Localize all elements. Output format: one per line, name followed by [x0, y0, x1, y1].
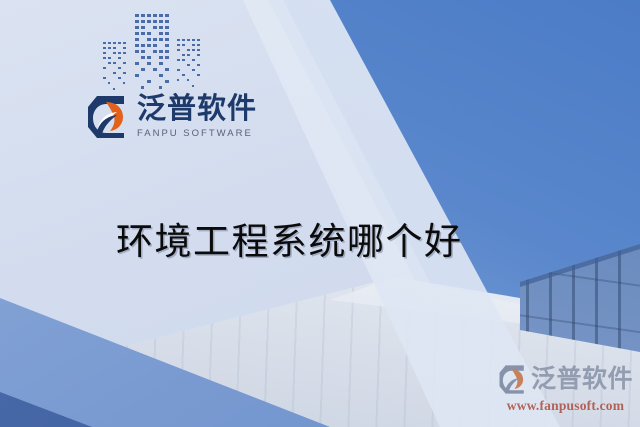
logo-chinese-name: 泛普软件 [137, 95, 257, 124]
fanpu-logo-lockup: 泛普软件 FANPU SOFTWARE [86, 94, 257, 140]
watermark-url: www.fanpusoft.com [507, 398, 624, 414]
page-title: 环境工程系统哪个好 [116, 211, 463, 265]
logo-english-name: FANPU SOFTWARE [137, 129, 257, 139]
fanpu-shield-leaf-mark [498, 364, 528, 395]
fanpu-shield-leaf-mark [86, 94, 130, 140]
pixel-city-skyline-icon [97, 6, 209, 98]
promo-banner: 泛普软件 FANPU SOFTWARE 环境工程系统哪个好 泛普软件 www.f… [0, 0, 640, 427]
logo-wordmark: 泛普软件 FANPU SOFTWARE [137, 95, 257, 139]
watermark-chinese-name: 泛普软件 [531, 367, 633, 392]
watermark-logo-row: 泛普软件 [498, 364, 633, 395]
corner-watermark: 泛普软件 www.fanpusoft.com [498, 364, 633, 414]
